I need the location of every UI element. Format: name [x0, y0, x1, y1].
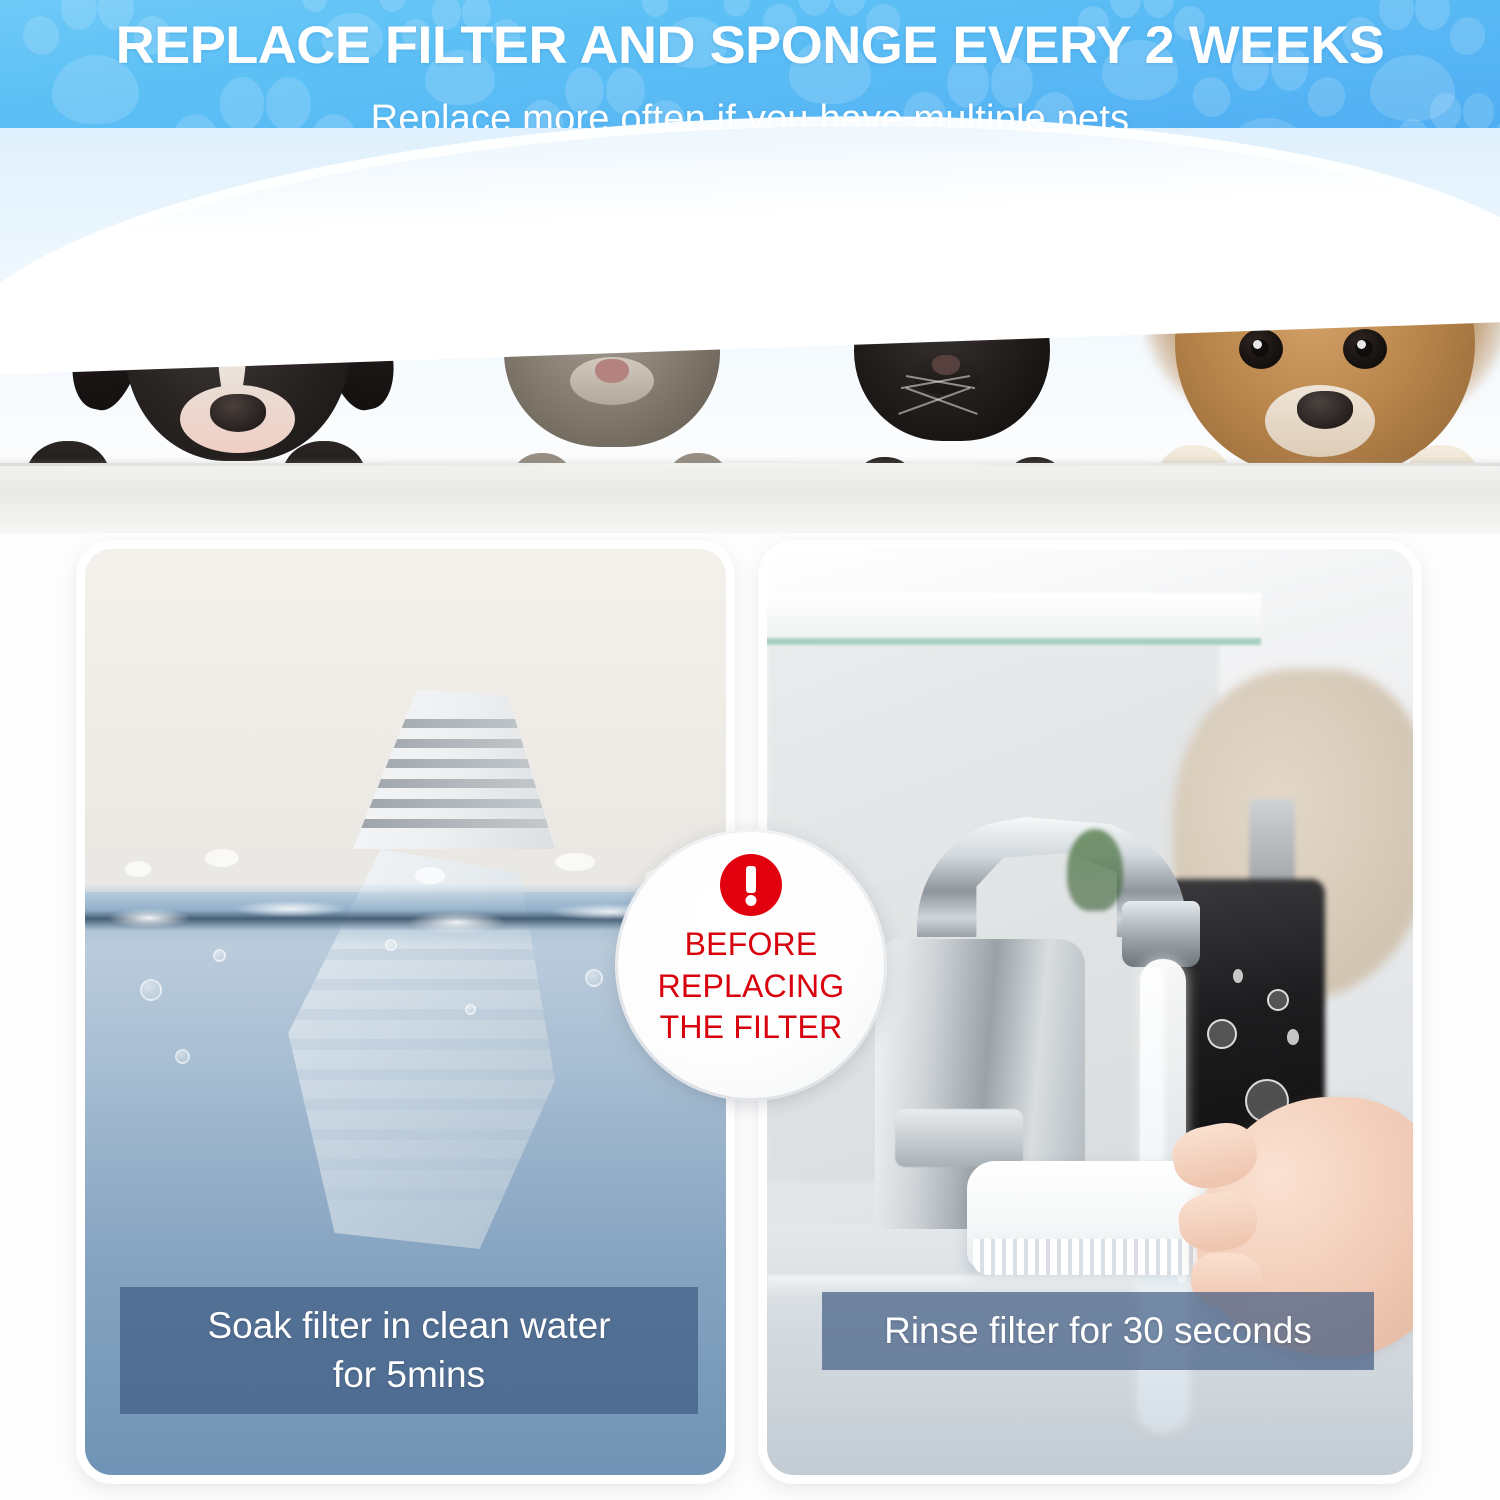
- water-bubble: [175, 1049, 190, 1064]
- foam-bubble: [125, 861, 151, 877]
- water-droplet: [1233, 969, 1243, 983]
- product-infographic: REPLACE FILTER AND SPONGE EVERY 2 WEEKS …: [0, 0, 1500, 1500]
- water-droplet: [1287, 1029, 1299, 1045]
- faucet-spout: [1122, 901, 1200, 967]
- water-splash: [1207, 1019, 1237, 1049]
- water-bubble: [465, 1004, 476, 1015]
- water-bubble: [385, 939, 397, 951]
- rinse-caption-line-1: Rinse filter for 30 seconds: [838, 1306, 1358, 1356]
- soak-panel-caption: Soak filter in clean water for 5mins: [120, 1287, 698, 1414]
- warning-badge-line-1: BEFORE: [685, 924, 818, 966]
- bathroom-shelf: [760, 593, 1261, 645]
- page-title: REPLACE FILTER AND SPONGE EVERY 2 WEEKS: [0, 18, 1500, 74]
- warning-badge-line-2: REPLACING: [658, 966, 845, 1008]
- foam-bubble: [415, 867, 445, 884]
- soak-caption-line-2: for 5mins: [136, 1350, 682, 1400]
- foam-bubble: [555, 853, 595, 871]
- water-bubble: [140, 979, 162, 1001]
- faucet-reflection: [1067, 829, 1123, 911]
- water-bubble: [585, 969, 603, 987]
- foam-bubble: [205, 849, 239, 867]
- water-splash: [1267, 989, 1289, 1011]
- warning-badge-line-3: THE FILTER: [660, 1007, 843, 1049]
- soak-caption-line-1: Soak filter in clean water: [136, 1301, 682, 1351]
- water-bubble: [213, 949, 226, 962]
- exclamation-alert-icon: [720, 854, 782, 916]
- rinse-panel-caption: Rinse filter for 30 seconds: [822, 1292, 1374, 1370]
- warning-badge: BEFORE REPLACING THE FILTER: [618, 832, 884, 1098]
- faucet-handle[interactable]: [895, 1109, 1023, 1167]
